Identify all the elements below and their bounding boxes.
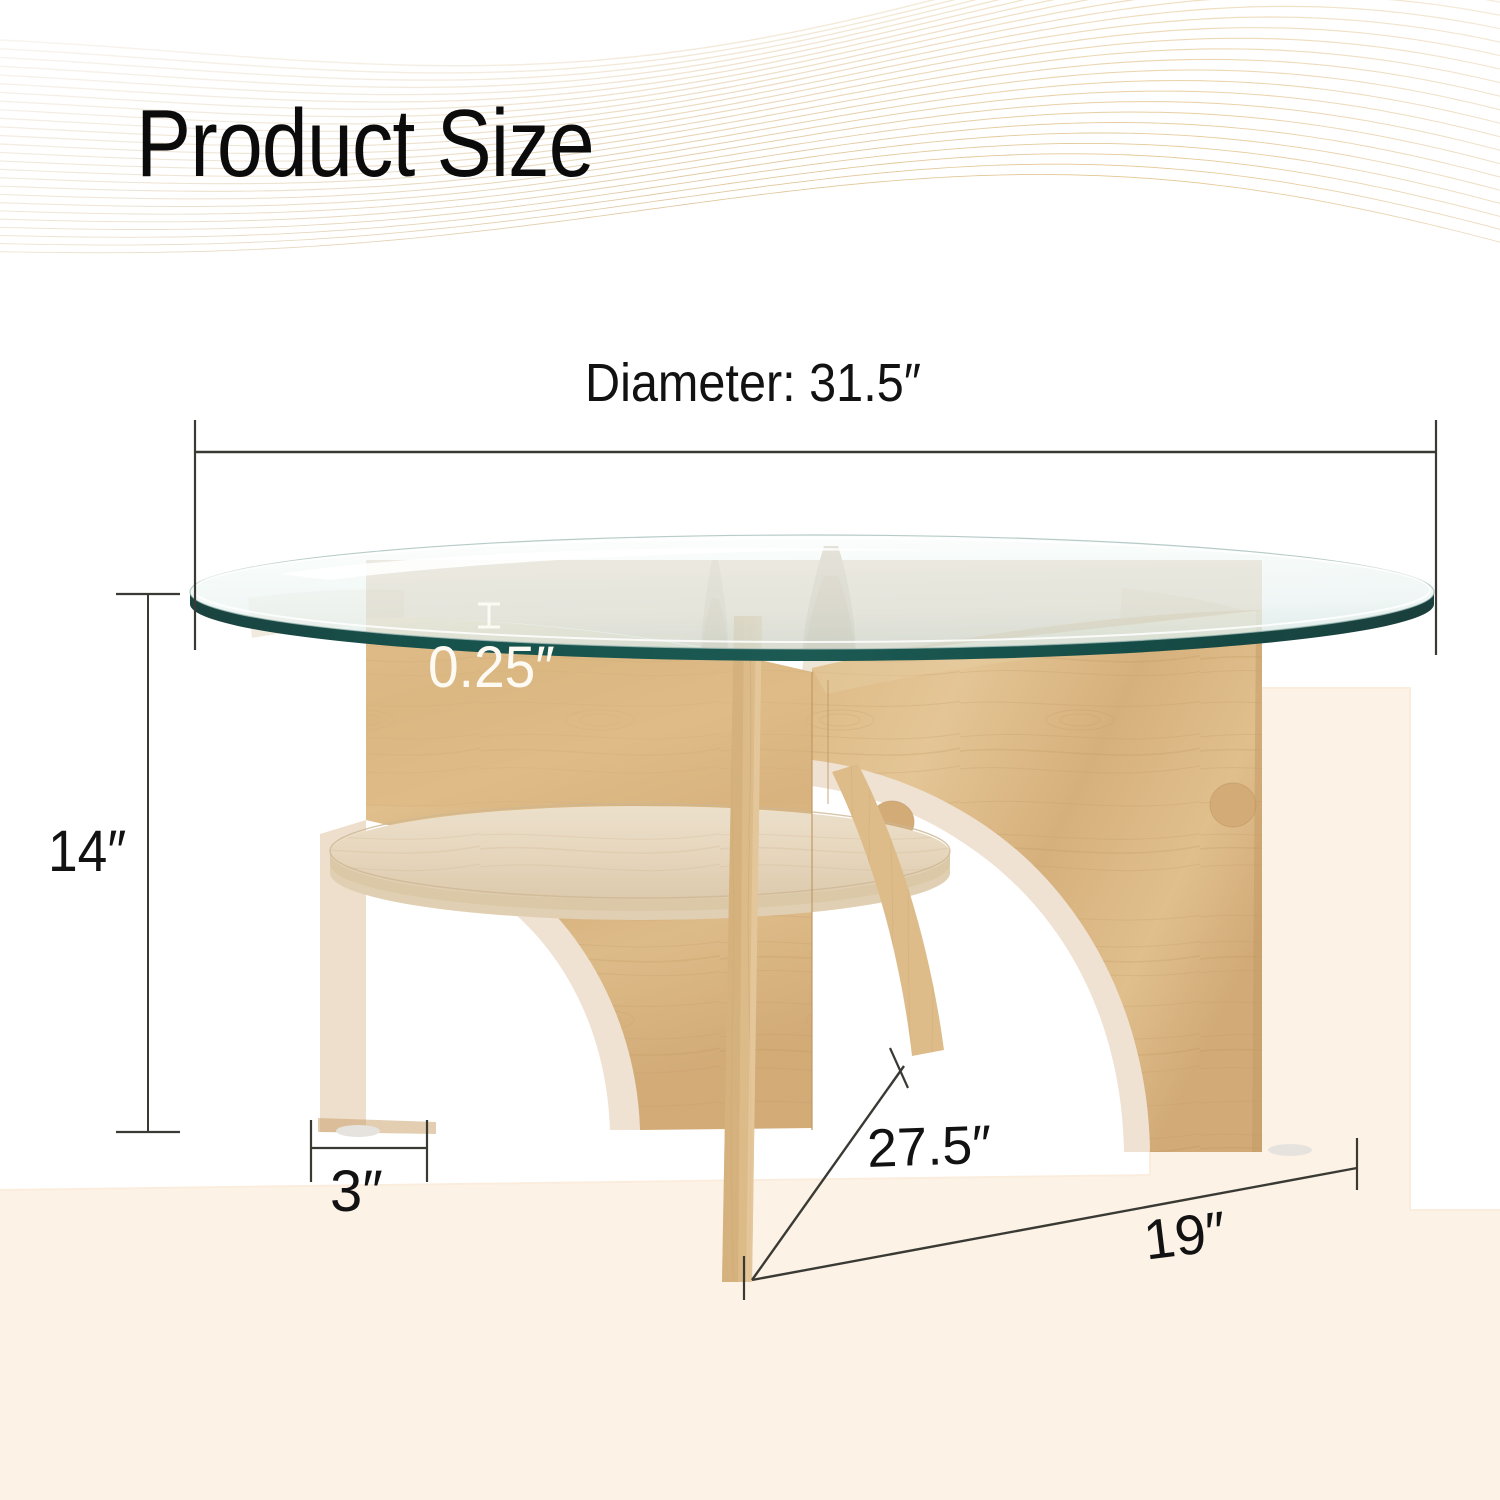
dimension-label-diameter: Diameter: 31.5″ [585,352,921,414]
dimension-base-width [752,1138,1357,1280]
dimension-label-glass-thickness: 0.25″ [428,634,555,701]
dimension-glass-thickness [478,604,500,627]
dimension-label-foot: 3″ [330,1158,383,1225]
dimension-lines [0,0,1500,1500]
product-size-infographic: Product Size Diameter: 31.5″ 14″ 0.25″ 3… [0,0,1500,1500]
page-title: Product Size [136,96,594,192]
dimension-label-depth: 27.5″ [866,1114,992,1180]
dimension-label-height: 14″ [48,818,126,885]
dimension-diameter [195,420,1436,655]
dimension-label-base-width: 19″ [1140,1198,1229,1273]
